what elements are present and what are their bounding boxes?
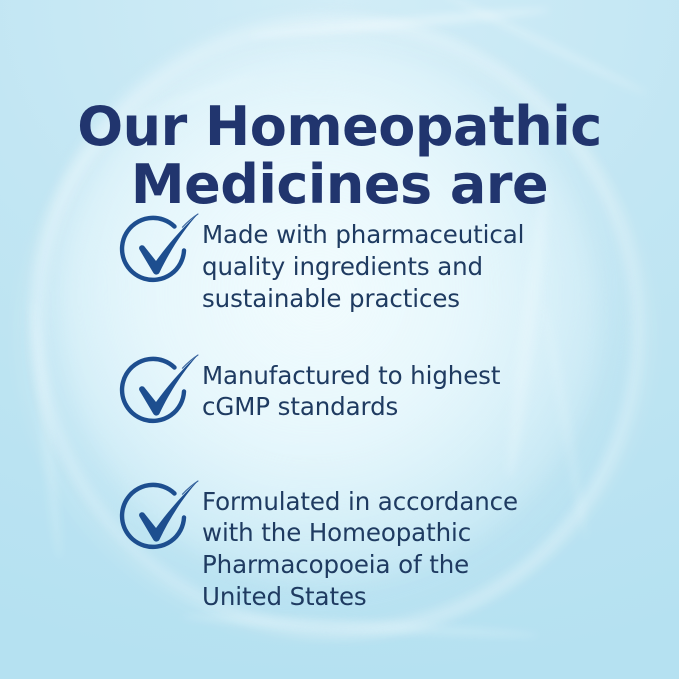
list-item-label: Made with pharmaceutical quality ingredi… [202,214,588,315]
circle-check-icon [112,479,208,561]
list-item: Manufactured to highest cGMP standards [118,355,588,435]
benefits-list: Made with pharmaceutical quality ingredi… [118,214,588,613]
list-item: Formulated in accordance with the Homeop… [118,481,588,613]
list-item-label: Manufactured to highest cGMP standards [202,355,588,424]
list-item: Made with pharmaceutical quality ingredi… [118,214,588,315]
circle-check-icon [112,212,208,294]
poster-canvas: Our Homeopathic Medicines are Made with … [0,0,679,679]
page-title: Our Homeopathic Medicines are [0,98,679,214]
content-layer: Our Homeopathic Medicines are Made with … [0,0,679,679]
list-item-label: Formulated in accordance with the Homeop… [202,481,588,613]
circle-check-icon [112,353,208,435]
